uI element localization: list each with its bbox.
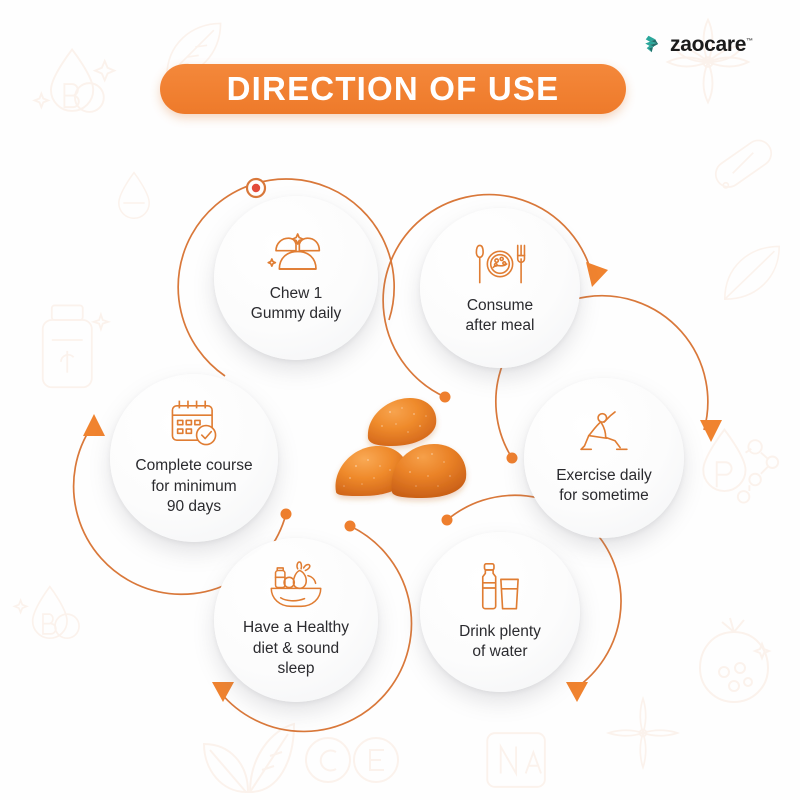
step-label: Exercise daily for sometime <box>544 466 664 507</box>
step-node-consume-after-meal[interactable]: Consume after meal <box>420 208 580 368</box>
step-label: Drink plenty of water <box>447 622 553 663</box>
step-label: Chew 1 Gummy daily <box>239 284 353 325</box>
arc-dot-step-4 <box>442 515 453 526</box>
step-node-chew-gummy[interactable]: Chew 1 Gummy daily <box>214 196 378 360</box>
gummy-candies-icon <box>266 232 326 276</box>
arc-dot-step-5 <box>345 521 356 532</box>
arrowhead-step-6 <box>83 414 105 436</box>
trademark-symbol: ™ <box>746 38 753 45</box>
page-title: DIRECTION OF USE <box>227 70 560 108</box>
step-label: Complete course for minimum 90 days <box>123 456 264 517</box>
water-bottle-glass-icon <box>475 562 525 614</box>
center-gummies-image <box>330 380 480 510</box>
infographic-canvas: zaocare™ DIRECTION OF USE <box>0 0 800 800</box>
arrowhead-step-5 <box>212 682 234 702</box>
arc-dot-step-3 <box>507 453 518 464</box>
arrowhead-step-4 <box>566 682 588 702</box>
step-label: Have a Healthy diet & sound sleep <box>231 618 361 679</box>
watermark-flower-icon <box>660 14 756 110</box>
calendar-check-icon <box>167 398 221 448</box>
plate-cutlery-meal-icon <box>473 240 527 288</box>
healthy-food-bowl-icon <box>267 560 325 610</box>
brand-logo[interactable]: zaocare™ <box>643 33 753 55</box>
arrowhead-step-2 <box>586 262 608 287</box>
hummingbird-icon <box>643 33 665 55</box>
page-title-banner: DIRECTION OF USE <box>160 64 626 114</box>
step-node-complete-course[interactable]: Complete course for minimum 90 days <box>110 374 278 542</box>
watermark-vitamin-drop-b-icon <box>26 38 122 134</box>
process-diagram: Chew 1 Gummy daily Consume after mea <box>0 140 800 760</box>
start-marker-step-1 <box>247 179 265 197</box>
step-node-healthy-diet-sleep[interactable]: Have a Healthy diet & sound sleep <box>214 538 378 702</box>
arc-dot-step-6 <box>281 509 292 520</box>
brand-name: zaocare <box>670 33 746 56</box>
step-label: Consume after meal <box>454 296 547 337</box>
yoga-exercise-icon <box>576 410 632 458</box>
arrowhead-step-3 <box>700 420 722 442</box>
step-node-drink-water[interactable]: Drink plenty of water <box>420 532 580 692</box>
step-node-exercise-daily[interactable]: Exercise daily for sometime <box>524 378 684 538</box>
brand-wordmark: zaocare™ <box>670 34 753 55</box>
